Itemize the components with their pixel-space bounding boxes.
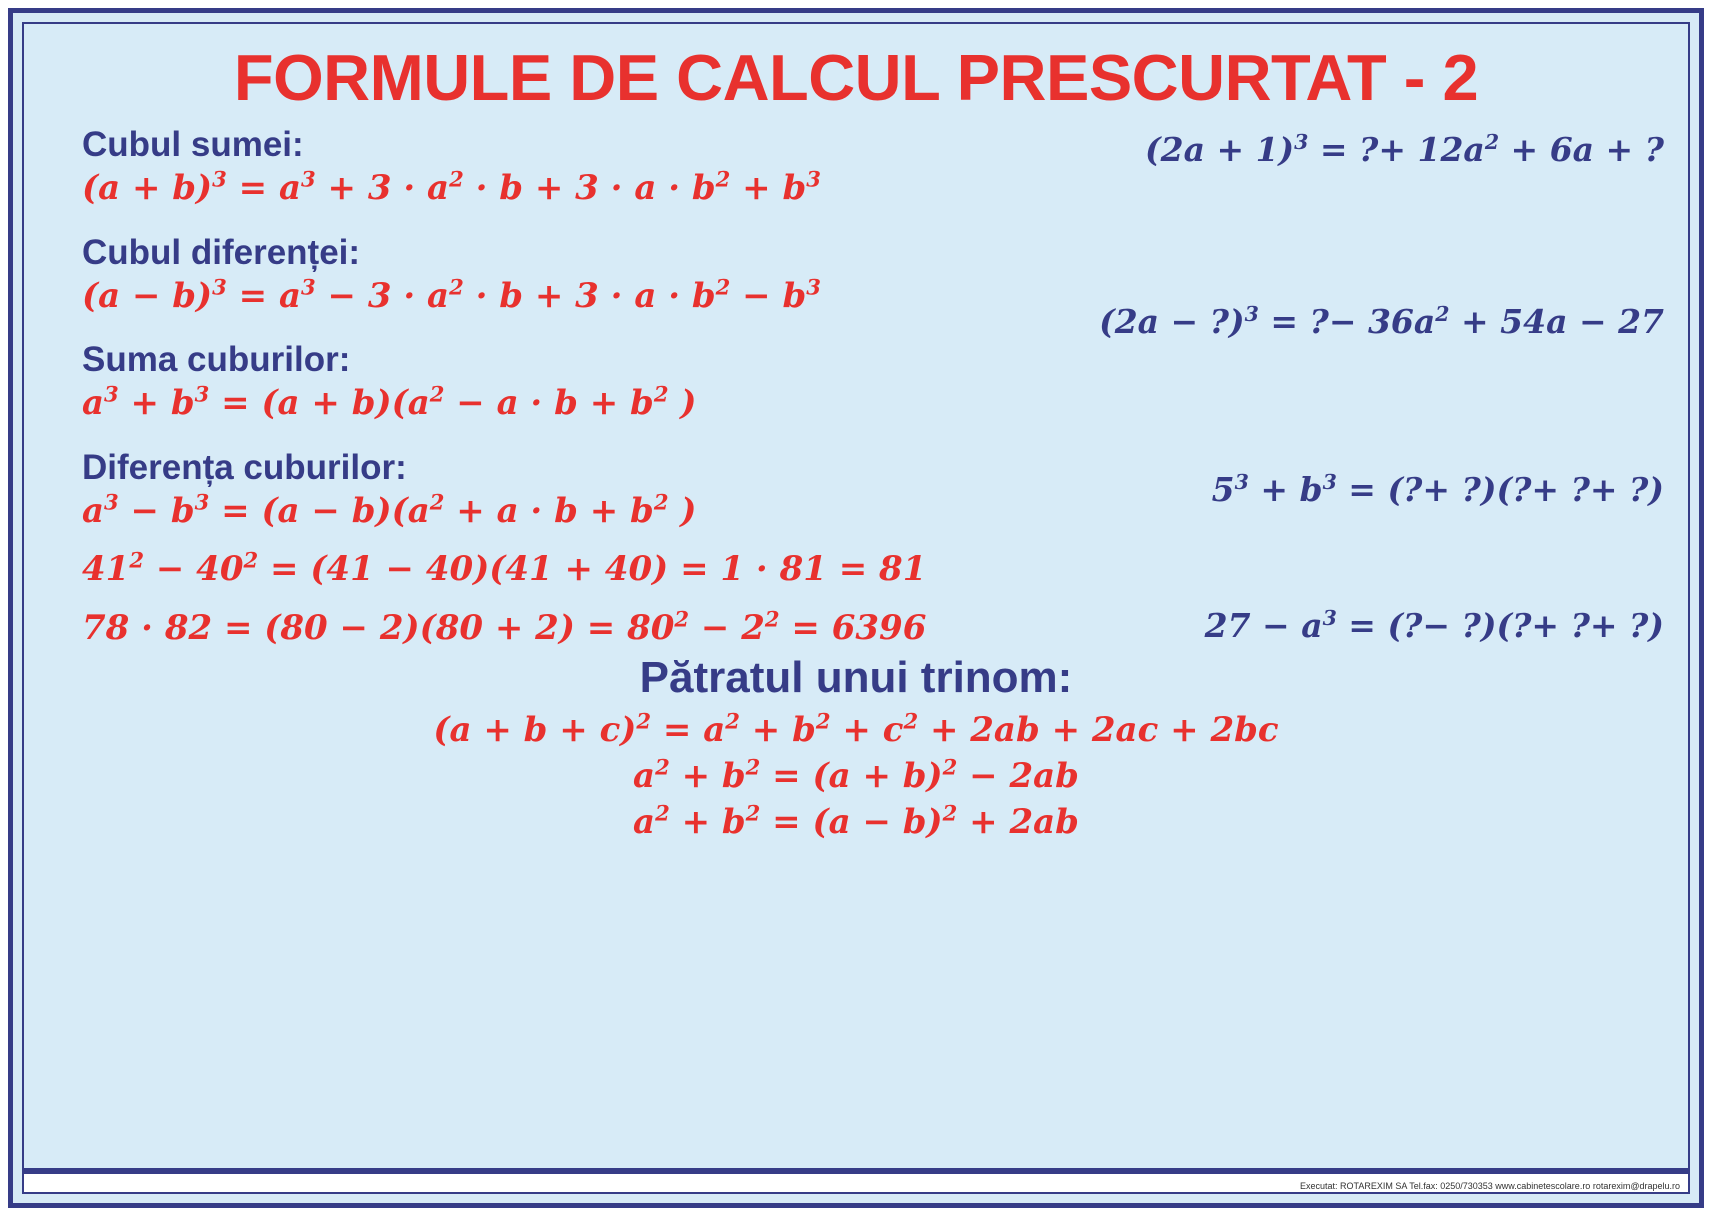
poster-inner-frame: FORMULE DE CALCUL PRESCURTAT - 2 Cubul s… xyxy=(22,22,1690,1194)
exercise-cube-of-sum-2a-plus-1: (2a + 1)3 = ?+ 12a2 + 6a + ? xyxy=(1145,133,1688,168)
formula-square-of-trinomial: (a + b + c)2 = a2 + b2 + c2 + 2ab + 2ac … xyxy=(24,713,1688,749)
exercise-cube-of-difference-2a-minus: (2a − ?)3 = ?− 36a2 + 54a − 27 xyxy=(1099,305,1688,340)
section-cubul-diferentei: Cubul diferenței: (a − b)3 = a3 − 3 · a2… xyxy=(82,233,924,315)
footer-bar: Executat: ROTAREXIM SA Tel.fax: 0250/730… xyxy=(24,1168,1688,1192)
poster-outer-frame: FORMULE DE CALCUL PRESCURTAT - 2 Cubul s… xyxy=(8,8,1704,1208)
formula-cube-of-sum: (a + b)3 = a3 + 3 · a2 · b + 3 · a · b2 … xyxy=(82,171,924,207)
example-41-squared-minus-40-squared: 412 − 402 = (41 − 40)(41 + 40) = 1 · 81 … xyxy=(82,552,924,588)
section-heading: Diferența cuburilor: xyxy=(82,448,924,488)
section-heading: Suma cuburilor: xyxy=(82,340,924,380)
exercise-difference-of-cubes-27: 27 − a3 = (?− ?)(?+ ?+ ?) xyxy=(1205,609,1688,644)
exercise-sum-of-cubes-5-cubed: 53 + b3 = (?+ ?)(?+ ?+ ?) xyxy=(1212,473,1688,508)
formula-sum-of-cubes: a3 + b3 = (a + b)(a2 − a · b + b2 ) xyxy=(82,386,924,422)
formula-difference-of-cubes: a3 − b3 = (a − b)(a2 + a · b + b2 ) xyxy=(82,494,924,530)
left-column: Cubul sumei: (a + b)3 = a3 + 3 · a2 · b … xyxy=(24,125,924,647)
right-column: (2a + 1)3 = ?+ 12a2 + 6a + ? (2a − ?)3 =… xyxy=(924,125,1688,647)
formula-a2-plus-b2-sum-form: a2 + b2 = (a + b)2 − 2ab xyxy=(24,759,1688,795)
formula-cube-of-difference: (a − b)3 = a3 − 3 · a2 · b + 3 · a · b2 … xyxy=(82,279,924,315)
formula-a2-plus-b2-difference-form: a2 + b2 = (a − b)2 + 2ab xyxy=(24,805,1688,841)
section-heading: Cubul sumei: xyxy=(82,125,924,165)
poster-title: FORMULE DE CALCUL PRESCURTAT - 2 xyxy=(24,40,1688,115)
section-diferenta-cuburilor: Diferența cuburilor: a3 − b3 = (a − b)(a… xyxy=(82,448,924,530)
section-suma-cuburilor: Suma cuburilor: a3 + b3 = (a + b)(a2 − a… xyxy=(82,340,924,422)
section-heading: Cubul diferenței: xyxy=(82,233,924,273)
poster-root: FORMULE DE CALCUL PRESCURTAT - 2 Cubul s… xyxy=(0,0,1712,1216)
bottom-section: Pătratul unui trinom: (a + b + c)2 = a2 … xyxy=(24,653,1688,840)
footer-credit-text: Executat: ROTAREXIM SA Tel.fax: 0250/730… xyxy=(1300,1181,1680,1191)
example-78-times-82: 78 · 82 = (80 − 2)(80 + 2) = 802 − 22 = … xyxy=(82,611,924,647)
section-cubul-sumei: Cubul sumei: (a + b)3 = a3 + 3 · a2 · b … xyxy=(82,125,924,207)
section-heading-patratul-unui-trinom: Pătratul unui trinom: xyxy=(24,653,1688,703)
content-columns: Cubul sumei: (a + b)3 = a3 + 3 · a2 · b … xyxy=(24,125,1688,647)
